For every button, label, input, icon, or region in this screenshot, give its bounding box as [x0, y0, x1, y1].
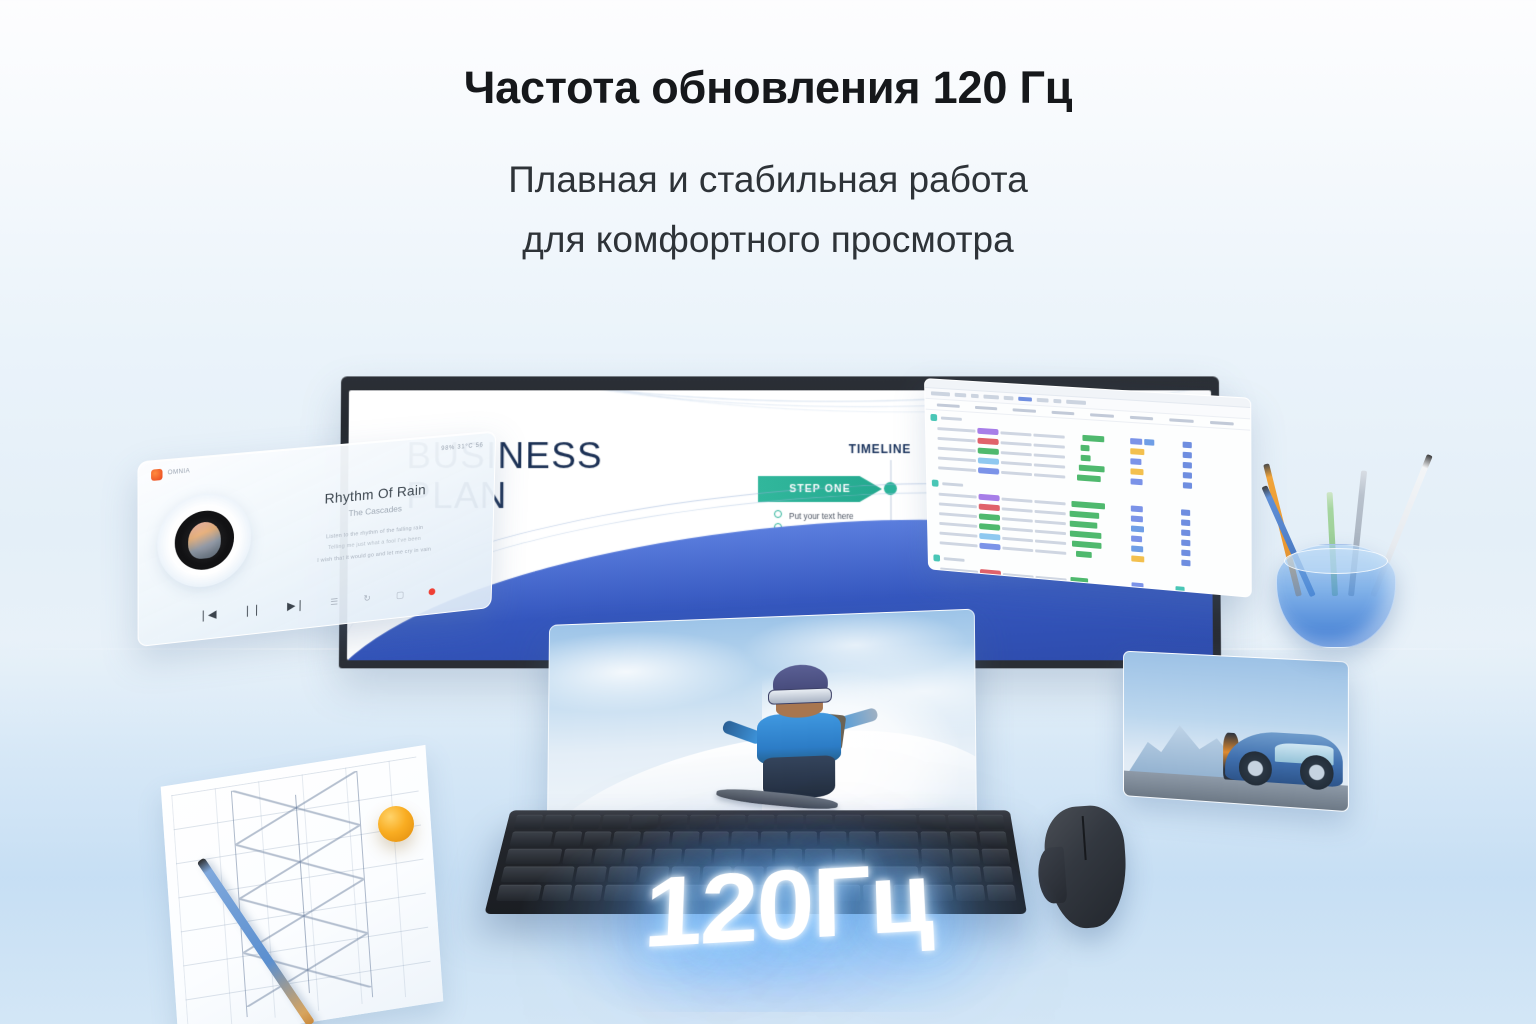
key-tab[interactable]: [509, 832, 552, 847]
keyboard-row: [514, 815, 1005, 829]
player-brand: OMNIA: [151, 466, 190, 481]
key[interactable]: [514, 815, 544, 829]
blueprint-structure: [231, 771, 374, 1017]
key[interactable]: [835, 815, 862, 829]
key[interactable]: [563, 849, 593, 864]
key[interactable]: [641, 832, 669, 847]
key[interactable]: [849, 832, 876, 847]
page-title: Частота обновления 120 Гц: [0, 62, 1536, 114]
toolbar-item[interactable]: [971, 394, 979, 398]
key[interactable]: [790, 832, 817, 847]
key[interactable]: [701, 832, 729, 847]
track-metadata: Rhythm Of Rain The Cascades Listen to th…: [269, 475, 494, 572]
equalizer-icon[interactable]: ☰: [330, 597, 338, 607]
toolbar-item[interactable]: [983, 395, 998, 400]
vinyl-record-icon: [175, 508, 234, 572]
toolbar-item[interactable]: [955, 393, 967, 398]
key[interactable]: [601, 815, 630, 829]
glass-cup-rim: [1284, 548, 1388, 574]
playlist-icon[interactable]: ▢: [396, 590, 404, 600]
key[interactable]: [979, 832, 1008, 847]
toolbar-item[interactable]: [1053, 399, 1061, 404]
key[interactable]: [689, 815, 716, 829]
rider-goggles: [768, 687, 832, 704]
snowboarder-figure: [728, 662, 873, 815]
app-logo-icon: [151, 468, 162, 480]
key[interactable]: [543, 815, 572, 829]
key[interactable]: [981, 849, 1010, 864]
key[interactable]: [948, 815, 976, 829]
key-capslock[interactable]: [505, 849, 563, 864]
key[interactable]: [919, 815, 947, 829]
key-ctrl-left[interactable]: [496, 885, 542, 901]
key-arrow-right[interactable]: [986, 885, 1016, 901]
key-win[interactable]: [541, 885, 572, 901]
key[interactable]: [748, 815, 775, 829]
page-subtitle: Плавная и стабильная работа для комфортн…: [0, 150, 1536, 270]
key[interactable]: [582, 832, 611, 847]
spreadsheet-window[interactable]: [924, 378, 1252, 598]
key[interactable]: [718, 815, 745, 829]
toolbar-item[interactable]: [1066, 400, 1086, 405]
photo-frame-display: [1123, 651, 1349, 813]
refresh-rate-overlay: 120Гц: [593, 840, 981, 975]
toolbar-item[interactable]: [1037, 398, 1049, 403]
key[interactable]: [631, 815, 659, 829]
toolbar-item[interactable]: [1004, 396, 1014, 401]
repeat-icon[interactable]: ↻: [363, 593, 370, 603]
key[interactable]: [671, 832, 699, 847]
key[interactable]: [660, 815, 688, 829]
record-indicator-icon[interactable]: [429, 587, 436, 595]
system-status: 98% 31°C 56: [441, 443, 483, 453]
subtitle-line-2: для комфортного просмотра: [0, 210, 1536, 270]
orange-ball: [378, 806, 414, 842]
key-backspace[interactable]: [864, 815, 917, 829]
previous-track-icon[interactable]: ❘◀: [199, 609, 217, 622]
lyrics-panel: Listen to the rhythm of the falling rain…: [269, 517, 478, 572]
toolbar-item[interactable]: [931, 391, 950, 396]
key[interactable]: [730, 832, 757, 847]
next-track-icon[interactable]: ▶❘: [287, 600, 305, 613]
key[interactable]: [977, 815, 1005, 829]
key[interactable]: [983, 867, 1014, 883]
key[interactable]: [777, 815, 803, 829]
blueprint-sheet: [161, 745, 444, 1024]
key[interactable]: [806, 815, 832, 829]
product-scene: Частота обновления 120 Гц Плавная и стаб…: [0, 0, 1536, 1024]
headline-block: Частота обновления 120 Гц Плавная и стаб…: [0, 0, 1536, 270]
key[interactable]: [552, 832, 582, 847]
player-brand-label: OMNIA: [168, 468, 190, 476]
album-art-halo: [157, 489, 251, 591]
toolbar-item-active[interactable]: [1018, 397, 1032, 402]
key-shift-left[interactable]: [501, 867, 576, 883]
pause-icon[interactable]: ❘❘: [243, 604, 262, 617]
key[interactable]: [612, 832, 641, 847]
key[interactable]: [760, 832, 787, 847]
album-art-area: [139, 488, 270, 594]
pencil-cup: [1262, 452, 1410, 648]
key[interactable]: [819, 832, 846, 847]
key[interactable]: [572, 815, 601, 829]
subtitle-line-1: Плавная и стабильная работа: [0, 150, 1536, 210]
